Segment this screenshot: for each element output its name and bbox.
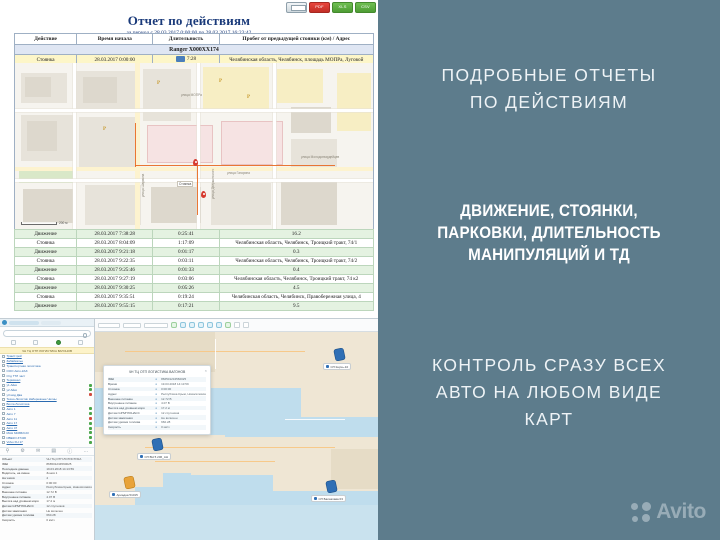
property-key: Датчик уровня топлива <box>2 513 43 517</box>
property-status-icon: ● <box>153 416 159 420</box>
status-indicator <box>89 431 92 434</box>
cell-mileage-address: Челябинская область, Челябинск, Правобер… <box>219 293 373 302</box>
cell-duration: 0:01:33 <box>153 266 219 275</box>
property-value: 0:00:00 <box>46 481 92 485</box>
property-value: 12.72 В <box>46 490 92 494</box>
status-indicator <box>89 417 92 420</box>
print-map-icon[interactable] <box>243 322 249 328</box>
column-header-mileage-address: Пробег от предыдущей стоянки (км) / Адре… <box>219 34 373 45</box>
parking-mark-icon: P <box>157 81 160 86</box>
table-row[interactable]: Движение28.03.2017 9:21:180:01:170.3 <box>15 248 374 257</box>
map-road <box>15 179 374 182</box>
print-button[interactable] <box>286 2 307 13</box>
stop-marker-icon[interactable] <box>201 191 206 198</box>
tab-online[interactable] <box>56 340 61 345</box>
tree-group-label[interactable]: ЧН ТЦ ОТП ЛОГИСТИКА ВАГОНОВ <box>0 347 94 354</box>
map-block-commercial <box>277 69 323 103</box>
cell-duration: 0:01:17 <box>153 248 219 257</box>
popup-property-row: Датчик уровня топлива●660.28 <box>108 420 206 425</box>
export-xls-button[interactable]: XLS <box>332 2 353 13</box>
property-status-icon: ● <box>153 420 159 424</box>
cell-mileage-address: Челябинская область, Челябинск, Троицкий… <box>219 275 373 284</box>
map-block-commercial <box>337 73 371 131</box>
cell-action: Стоянка <box>15 239 77 248</box>
checkbox[interactable] <box>2 379 5 382</box>
info-icon[interactable]: ⓘ <box>67 448 72 455</box>
checkbox[interactable] <box>2 431 5 434</box>
cell-start: 28.03.2017 9:55:15 <box>77 302 153 311</box>
map-scale-label: 200 м <box>59 221 67 225</box>
checkbox[interactable] <box>2 441 5 444</box>
promo-line: КАРТ <box>394 406 704 433</box>
popup-property-row: Стоянка●0:00:00 <box>108 387 206 392</box>
chat-icon[interactable]: ✉ <box>36 448 40 454</box>
property-key: IMEI <box>2 462 43 466</box>
cell-duration-text: 7:28 <box>187 57 196 63</box>
street-label: улица Дзержинского <box>211 169 215 199</box>
map-block <box>83 77 117 103</box>
avito-wordmark: Avito <box>656 500 706 524</box>
table-row[interactable]: Движение28.03.2017 7:38:280:25:4116.2 <box>15 230 374 239</box>
property-value: 19.03.2018 14:13:59 <box>46 467 92 471</box>
vehicle-marker-text: СП Керчь-10 <box>331 365 349 369</box>
property-status-icon: ● <box>153 377 159 381</box>
popup-property-row: Датчик GPS/ГЛОНАСС●12 спутников <box>108 410 206 415</box>
export-pdf-label: PDF <box>315 5 324 9</box>
property-row: Высота над уровнем моря17.2 м <box>2 499 92 504</box>
cell-mileage-address: Челябинская область, Челябинск, Троицкий… <box>219 257 373 266</box>
list-item-label[interactable]: Авто 47 <box>7 426 18 430</box>
popup-property-value: 0:00:00 <box>161 387 206 391</box>
checkbox[interactable] <box>2 407 5 410</box>
checkbox[interactable] <box>2 384 5 387</box>
property-row: Датчик уровня топлива660.28 <box>2 513 92 518</box>
cell-action: Движение <box>15 284 77 293</box>
range-all-button[interactable] <box>225 322 231 328</box>
list-item-label[interactable]: Volvo FH 17 <box>7 440 23 444</box>
property-status-icon: ● <box>153 392 159 396</box>
property-status-icon: ● <box>153 387 159 391</box>
export-pdf-button[interactable]: PDF <box>309 2 330 13</box>
list-item-label[interactable]: Техно-Логистик Набережные Челны <box>7 397 57 401</box>
cell-start: 28.03.2017 9:25:46 <box>77 266 153 275</box>
list-item-label[interactable]: у2 Айко <box>7 388 18 392</box>
popup-property-value: 660.28 <box>161 420 206 424</box>
checkbox[interactable] <box>2 398 5 401</box>
property-key: Датчик зажигания <box>2 509 43 513</box>
map-block <box>25 77 51 97</box>
cell-mileage-address: Челябинская область, Челябинск, Троицкий… <box>219 239 373 248</box>
property-value: Республика Крым, Новосёловское <box>46 485 92 489</box>
list-item-label[interactable]: Забайкалье <box>7 359 24 363</box>
map-track-line <box>197 165 198 215</box>
popup-property-key: Скорость <box>108 425 151 429</box>
truck-icon <box>112 493 115 496</box>
truck-icon <box>314 497 317 500</box>
table-row[interactable]: Стоянка28.03.2017 9:22:350:03:11Челябинс… <box>15 257 374 266</box>
checkbox[interactable] <box>2 374 5 377</box>
checkbox[interactable] <box>2 369 5 372</box>
list-item-label[interactable]: Отд ТТЛ част <box>7 374 26 378</box>
promo-block-features: ДВИЖЕНИЕ, СТОЯНКИ, ПАРКОВКИ, ДЛИТЕЛЬНОСТ… <box>378 200 720 266</box>
street-label: улица Шаумяна <box>141 174 145 197</box>
property-status-icon: ● <box>153 425 159 429</box>
list-item-label[interactable]: ТранСтрой <box>7 354 22 358</box>
list-item-label[interactable]: Авто 1 <box>7 407 16 411</box>
close-icon[interactable]: × <box>205 368 207 373</box>
route-icon[interactable]: ⚲ <box>6 448 10 454</box>
property-row: ОбъектЧН ТЦ ОТП ЛОГИСТИКА <box>2 457 92 462</box>
parking-mark-icon: P <box>219 79 222 84</box>
topbar-tab[interactable] <box>9 321 39 325</box>
property-key: Внутреннее питание <box>2 495 43 499</box>
cell-start: 28.03.2017 9:35:51 <box>77 293 153 302</box>
property-row: Внешнее питание12.72 В <box>2 490 92 495</box>
property-status-icon: ● <box>153 382 159 386</box>
status-indicator <box>89 412 92 415</box>
map-road-major <box>15 167 374 171</box>
status-indicator <box>89 441 92 444</box>
popup-property-row: Адрес●Республика Крым, Новосёловское <box>108 391 206 396</box>
cell-start: 28.03.2017 7:38:28 <box>77 230 153 239</box>
region-map-toolbar <box>95 319 378 332</box>
cell-duration: 0:05:26 <box>153 284 219 293</box>
list-item-label[interactable]: у3 мод Два <box>7 393 23 397</box>
truck-icon <box>326 365 329 368</box>
popup-title: ЧН ТЦ ОТП ЛОГИСТИКА ВАГОНОВ <box>108 369 206 377</box>
cell-start: 28.03.2017 9:21:18 <box>77 248 153 257</box>
cell-mileage-address: 4.5 <box>219 284 373 293</box>
promo-line: МАНИПУЛЯЦИЙ И ТД <box>406 244 691 266</box>
cell-action: Стоянка <box>15 275 77 284</box>
checkbox[interactable] <box>2 388 5 391</box>
cell-action: Движение <box>15 302 77 311</box>
popup-property-key: Внешнее питание <box>108 397 151 401</box>
checkbox[interactable] <box>2 417 5 420</box>
map-block-commercial <box>203 67 269 111</box>
popup-property-row: Внешнее питание●12.72 В <box>108 396 206 401</box>
property-key: Датчик GPS/ГЛОНАСС <box>2 504 43 508</box>
vehicle-marker-text: СП Балаклава 03 <box>319 497 343 501</box>
property-key: Скорость <box>2 518 43 522</box>
status-indicator <box>89 436 92 439</box>
property-key: Адрес <box>2 485 43 489</box>
map-sea <box>95 505 378 540</box>
property-row: Скорость0 км/ч <box>2 518 92 523</box>
map-track-line <box>135 165 335 166</box>
tab-all[interactable] <box>11 340 16 345</box>
date-from-input[interactable] <box>98 323 120 328</box>
column-header-start: Время начала <box>77 34 153 45</box>
popup-property-value: 19.03.2018 14:13:59 <box>161 382 206 386</box>
map-block-highlight <box>147 125 213 163</box>
property-value: 4 <box>46 476 92 480</box>
report-screenshot-pane: PDF XLS CSV Отчет по действиям за период… <box>0 0 378 540</box>
status-indicator <box>89 384 92 387</box>
checkbox[interactable] <box>2 360 5 363</box>
settings-icon[interactable]: ⚙ <box>20 448 24 454</box>
checkbox[interactable] <box>2 403 5 406</box>
list-item-label[interactable]: Авто 11 <box>7 417 18 421</box>
time-from-input[interactable] <box>123 323 141 328</box>
map-land <box>331 449 378 489</box>
popup-property-row: Скорость●0 км/ч <box>108 425 206 430</box>
property-row: На часов4 <box>2 476 92 481</box>
report-export-toolbar: PDF XLS CSV <box>0 0 378 14</box>
cell-duration: 0:19:24 <box>153 293 219 302</box>
cell-mileage-address: 9.5 <box>219 302 373 311</box>
cell-duration: 0:03:11 <box>153 257 219 266</box>
popup-property-row: Датчик зажигания●Не включен <box>108 415 206 420</box>
vehicle-info-popup[interactable]: × ЧН ТЦ ОТП ЛОГИСТИКА ВАГОНОВ IMEI●86650… <box>103 365 211 435</box>
range-3h-button[interactable] <box>189 322 195 328</box>
list-item-label[interactable]: Терминал <box>7 378 21 382</box>
table-row[interactable]: Движение28.03.2017 9:30:250:05:264.5 <box>15 284 374 293</box>
property-row: Стоянка0:00:00 <box>2 480 92 485</box>
popup-property-key: Датчик уровня топлива <box>108 420 151 424</box>
status-indicator <box>89 427 92 430</box>
export-csv-label: CSV <box>361 5 370 9</box>
cell-action: Стоянка <box>15 293 77 302</box>
parking-mark-icon: P <box>247 95 250 100</box>
property-value: 4.07 В <box>46 495 92 499</box>
property-value: 866501234560025 <box>46 462 92 466</box>
map-road <box>73 63 76 229</box>
property-key: Последние данные <box>2 467 43 471</box>
checkbox[interactable] <box>2 355 5 358</box>
property-row: Датчик GPS/ГЛОНАСС12 спутников <box>2 504 92 509</box>
table-row[interactable]: Стоянка28.03.2017 9:27:190:03:06Челябинс… <box>15 275 374 284</box>
cell-start: 28.03.2017 9:27:19 <box>77 275 153 284</box>
parking-mark-icon: P <box>103 127 106 132</box>
cell-start: 28.03.2017 9:22:35 <box>77 257 153 266</box>
checkbox[interactable] <box>2 436 5 439</box>
map-block <box>281 181 337 225</box>
popup-property-value: 12 спутников <box>161 411 206 415</box>
object-properties-list: ОбъектЧН ТЦ ОТП ЛОГИСТИКАIMEI86650123456… <box>0 456 94 524</box>
property-key: Водитель, на смене <box>2 471 43 475</box>
table-row[interactable]: Стоянка28.03.2017 8:04:091:17:09Челябинс… <box>15 239 374 248</box>
cell-mileage-address: 16.2 <box>219 230 373 239</box>
property-row: Датчик зажиганияНе включен <box>2 508 92 513</box>
checkbox[interactable] <box>2 427 5 430</box>
list-item-label[interactable]: Авто 7 <box>7 412 16 416</box>
table-header-row: Действие Время начала Длительность Пробе… <box>15 34 374 45</box>
property-key: Стоянка <box>2 481 43 485</box>
map-road <box>145 447 335 448</box>
vehicle-marker-text: СП ВН 5 206_АН <box>145 455 169 459</box>
cell-mileage-address: 0.4 <box>219 266 373 275</box>
street-label: улица МОПРа <box>181 93 202 97</box>
map-block <box>151 187 201 223</box>
map-block <box>211 183 271 225</box>
promo-line: КОНТРОЛЬ СРАЗУ ВСЕХ <box>394 352 704 379</box>
popup-property-value: Не включен <box>161 416 206 420</box>
report-title: Отчет по действиям <box>0 13 378 29</box>
popup-property-row: Высота над уровнем моря●17.2 м <box>108 406 206 411</box>
region-map[interactable]: СП Керчь-10 СП ВН 5 206_АН Ариадна 51015… <box>95 318 378 540</box>
cell-duration: 1:17:09 <box>153 239 219 248</box>
map-scale-bar <box>21 222 57 225</box>
stop-marker-icon[interactable] <box>193 159 198 166</box>
property-value: 17.2 м <box>46 499 92 503</box>
status-indicator <box>89 393 92 396</box>
property-key: Внешнее питание <box>2 490 43 494</box>
vehicle-marker-label[interactable]: СП Балаклава 03 <box>311 495 346 502</box>
list-item-label[interactable]: у1 Айко <box>7 383 18 387</box>
cell-duration: 0:17:21 <box>153 302 219 311</box>
duration-badge-icon <box>176 56 185 62</box>
property-row: Последние данные19.03.2018 14:13:59 <box>2 466 92 471</box>
property-status-icon: ● <box>153 397 159 401</box>
object-tree[interactable]: ТранСтройЗабайкальеТранспортная логистик… <box>0 354 94 445</box>
vehicle-marker-text: Ариадна 51015 <box>117 493 138 497</box>
popup-property-value: 866501234560025 <box>161 377 206 381</box>
promo-block-reports: ПОДРОБНЫЕ ОТЧЕТЫ ПО ДЕЙСТВИЯМ <box>378 62 720 116</box>
avito-watermark: Avito <box>631 500 706 524</box>
vehicle-group-row: Ranger X000XX174 <box>15 45 374 55</box>
list-item-label[interactable]: Транспортная логистика <box>7 364 41 368</box>
popup-property-value: Республика Крым, Новосёловское <box>161 392 206 396</box>
cell-mileage-address: 0.3 <box>219 248 373 257</box>
checkbox[interactable] <box>2 412 5 415</box>
promo-line: ПАРКОВКИ, ДЛИТЕЛЬНОСТЬ <box>406 222 691 244</box>
list-item-label[interactable]: МАН 64086/С23 <box>7 431 29 435</box>
checkbox[interactable] <box>2 364 5 367</box>
property-status-icon: ● <box>153 401 159 405</box>
table-row[interactable]: Движение28.03.2017 9:55:150:17:219.5 <box>15 302 374 311</box>
promo-line: АВТО НА ЛЮБОМ ВИДЕ <box>394 379 704 406</box>
map-block <box>27 121 57 151</box>
property-status-icon: ● <box>153 406 159 410</box>
export-csv-button[interactable]: CSV <box>355 2 376 13</box>
vehicle-marker-label[interactable]: Ариадна 51015 <box>109 491 141 498</box>
list-item-label[interactable]: ООО Авто-КАЗ <box>7 369 28 373</box>
cell-action: Стоянка <box>15 257 77 266</box>
status-indicator <box>89 388 92 391</box>
property-key: Объект <box>2 457 43 461</box>
map-block <box>23 189 75 223</box>
fleet-action-iconbar: ⚲ ⚙ ✉ ▤ ⓘ … <box>0 447 94 456</box>
popup-property-value: 12.72 В <box>161 397 206 401</box>
cell-start: 28.03.2017 8:04:09 <box>77 239 153 248</box>
popup-property-key: Высота над уровнем моря <box>108 406 151 410</box>
street-label: улица Молодогвардейцев <box>301 155 339 159</box>
popup-property-key: Внутреннее питание <box>108 401 151 405</box>
table-row[interactable]: Стоянка28.03.2017 9:35:510:19:24Челябинс… <box>15 293 374 302</box>
popup-property-key: IMEI <box>108 377 151 381</box>
table-row[interactable]: Движение28.03.2017 9:25:460:01:330.4 <box>15 266 374 275</box>
cell-start: 28.03.2017 9:30:25 <box>77 284 153 293</box>
layers-icon[interactable] <box>234 322 240 328</box>
topbar-tab[interactable] <box>41 321 61 325</box>
property-value: ЧН ТЦ ОТП ЛОГИСТИКА <box>46 457 92 461</box>
tab-offline[interactable] <box>78 340 83 345</box>
vehicle-name: Ranger X000XX174 <box>15 45 374 55</box>
cell-duration: 0:03:06 <box>153 275 219 284</box>
more-icon[interactable]: … <box>83 448 88 454</box>
map-track-line <box>135 123 136 167</box>
map-road <box>15 109 374 112</box>
promo-block-maps: КОНТРОЛЬ СРАЗУ ВСЕХ АВТО НА ЛЮБОМ ВИДЕ К… <box>378 352 720 433</box>
property-value: Зонов 1 <box>46 471 92 475</box>
avito-logo-icon <box>631 502 651 522</box>
list-item-label[interactable]: Авто 17 <box>7 421 18 425</box>
vehicle-marker-label[interactable]: СП Керчь-10 <box>323 363 351 370</box>
property-key: На часов <box>2 476 43 480</box>
range-7d-button[interactable] <box>216 322 222 328</box>
property-row: IMEI866501234560025 <box>2 462 92 467</box>
column-header-action: Действие <box>15 34 77 45</box>
popup-property-row: Внутреннее питание●4.07 В <box>108 401 206 406</box>
cell-action: Движение <box>15 230 77 239</box>
cell-action: Движение <box>15 248 77 257</box>
search-input[interactable] <box>3 330 91 337</box>
popup-property-value: 0 км/ч <box>161 425 206 429</box>
vehicle-marker-label[interactable]: СП ВН 5 206_АН <box>137 453 171 460</box>
map-road <box>215 339 216 369</box>
popup-property-row: Время●19.03.2018 14:13:59 <box>108 382 206 387</box>
promo-line: ПОДРОБНЫЕ ОТЧЕТЫ <box>394 62 704 89</box>
city-map[interactable]: P P P P улица Шаумяна улица Дзержинского… <box>14 63 374 229</box>
promo-line: ДВИЖЕНИЕ, СТОЯНКИ, <box>406 200 691 222</box>
map-road <box>285 419 345 420</box>
range-12h-button[interactable] <box>198 322 204 328</box>
property-row: Внутреннее питание4.07 В <box>2 494 92 499</box>
track-button[interactable] <box>171 322 177 328</box>
property-value: Не включен <box>46 509 92 513</box>
app-logo-icon <box>2 320 7 325</box>
popup-property-key: Датчик зажигания <box>108 416 151 420</box>
tab-groups[interactable] <box>33 340 38 345</box>
filter-tabs <box>0 339 94 347</box>
property-row: АдресРеспублика Крым, Новосёловское <box>2 485 92 490</box>
range-24h-button[interactable] <box>207 322 213 328</box>
street-label: улица Гагарина <box>227 171 250 175</box>
status-indicator <box>89 422 92 425</box>
map-block <box>79 117 135 169</box>
range-1h-button[interactable] <box>180 322 186 328</box>
property-value: 0 км/ч <box>46 518 92 522</box>
popup-property-value: 4.07 В <box>161 401 206 405</box>
map-road <box>155 461 275 462</box>
checkbox[interactable] <box>2 393 5 396</box>
popup-property-key: Стоянка <box>108 387 151 391</box>
popup-property-key: Датчик GPS/ГЛОНАСС <box>108 411 151 415</box>
property-status-icon: ● <box>153 411 159 415</box>
fleet-app-sidebar[interactable]: ЧН ТЦ ОТП ЛОГИСТИКА ВАГОНОВ ТранСтройЗаб… <box>0 318 95 540</box>
fleet-app-topbar <box>0 319 94 327</box>
checkbox[interactable] <box>2 422 5 425</box>
popup-property-key: Время <box>108 382 151 386</box>
map-land <box>215 363 241 377</box>
promo-line: ПО ДЕЙСТВИЯМ <box>394 89 704 116</box>
truck-icon <box>140 455 143 458</box>
list-item-label[interactable]: Волга Логистика <box>7 402 30 406</box>
list-item[interactable]: Volvo FH 17 <box>0 440 94 445</box>
popup-property-value: 17.2 м <box>161 406 206 410</box>
popup-property-key: Адрес <box>108 392 151 396</box>
map-road <box>273 63 276 229</box>
status-indicator <box>89 407 92 410</box>
report-icon[interactable]: ▤ <box>51 448 56 454</box>
property-row: Водитель, на сменеЗонов 1 <box>2 471 92 476</box>
period-select[interactable] <box>144 323 168 328</box>
column-header-duration: Длительность <box>153 34 219 45</box>
list-item-label[interactable]: ИВЕКО Z7430 <box>7 436 27 440</box>
export-xls-label: XLS <box>338 5 346 9</box>
promo-panel: ПОДРОБНЫЕ ОТЧЕТЫ ПО ДЕЙСТВИЯМ ДВИЖЕНИЕ, … <box>378 0 720 540</box>
